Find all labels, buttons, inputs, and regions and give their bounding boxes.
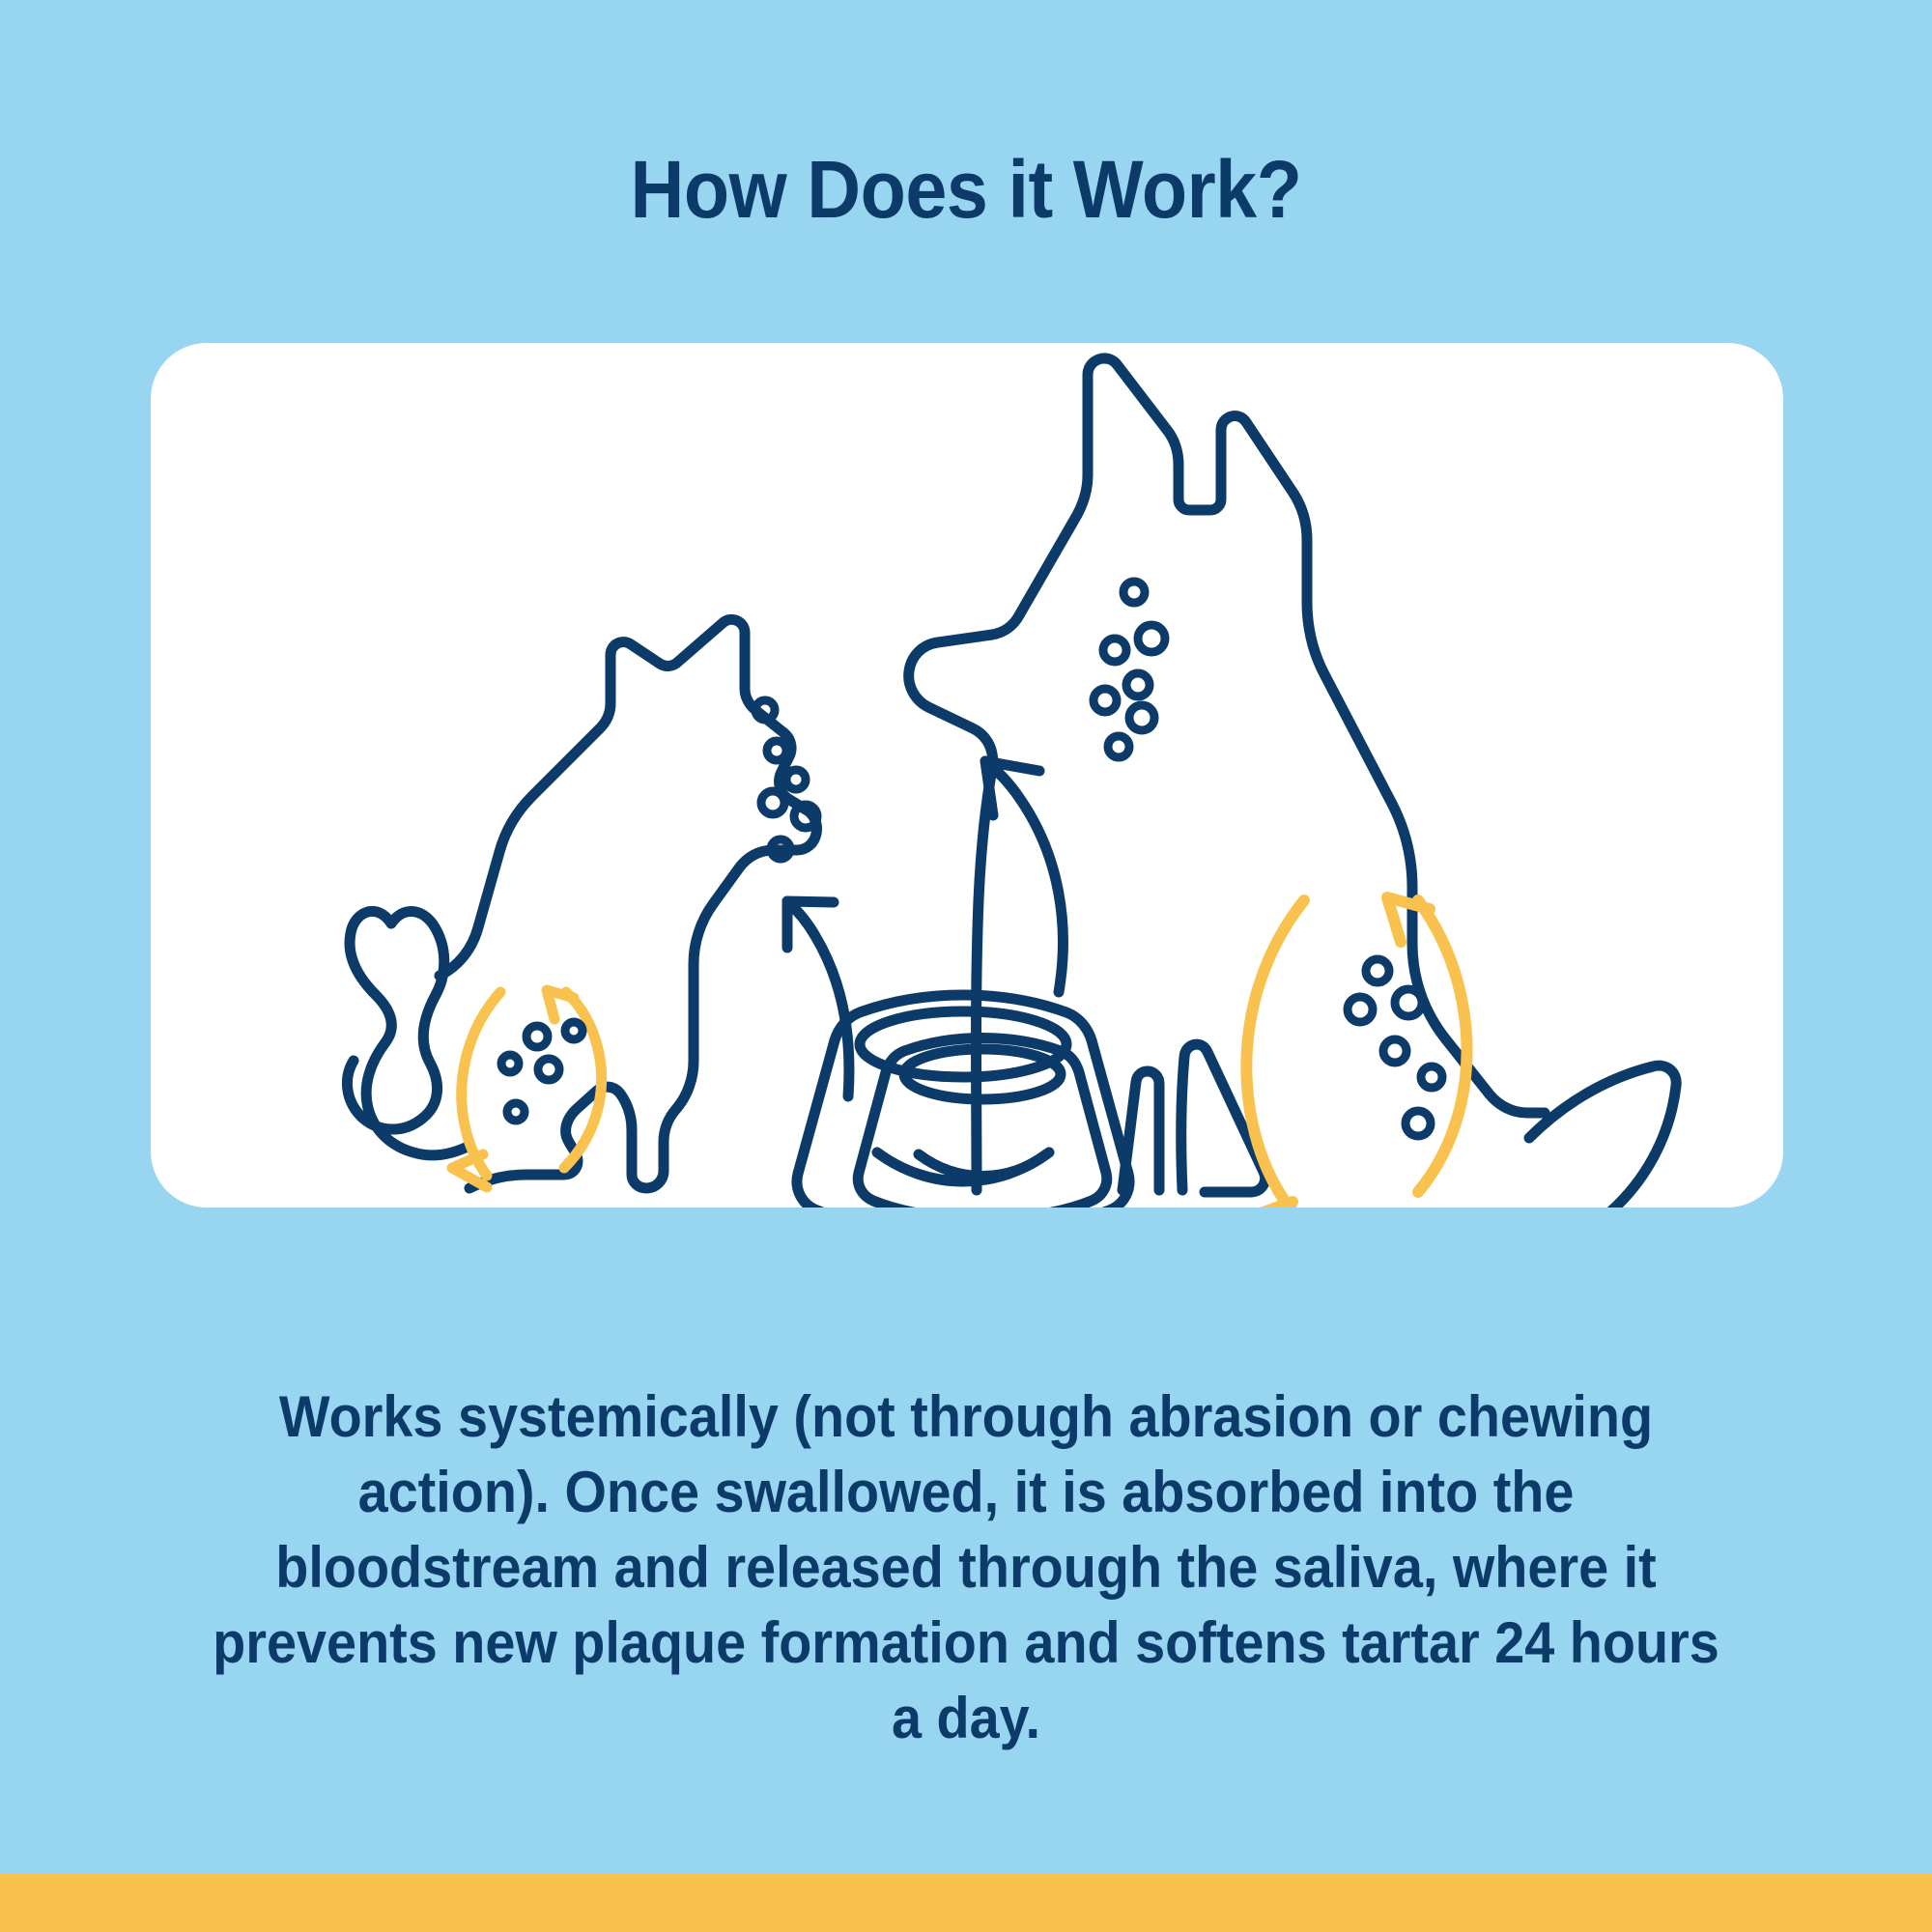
dog-stomach-particles (1348, 959, 1442, 1136)
dog-stomach-circulation-arrows (1246, 897, 1466, 1207)
body-paragraph: Works systemically (not through abrasion… (203, 1379, 1730, 1756)
cat-stomach-particles (501, 1022, 582, 1121)
cat-silhouette (347, 619, 816, 1188)
dog-mouth-particles (1094, 582, 1165, 757)
page-title: How Does it Work? (77, 147, 1855, 232)
systemic-action-illustration (151, 343, 1783, 1207)
illustration-card (151, 343, 1783, 1207)
cat-intake-arrow (787, 901, 849, 1096)
dog-intake-arrow (985, 761, 1063, 992)
poster-canvas: How Does it Work? (0, 0, 1932, 1932)
bottom-accent-band (0, 1874, 1932, 1932)
